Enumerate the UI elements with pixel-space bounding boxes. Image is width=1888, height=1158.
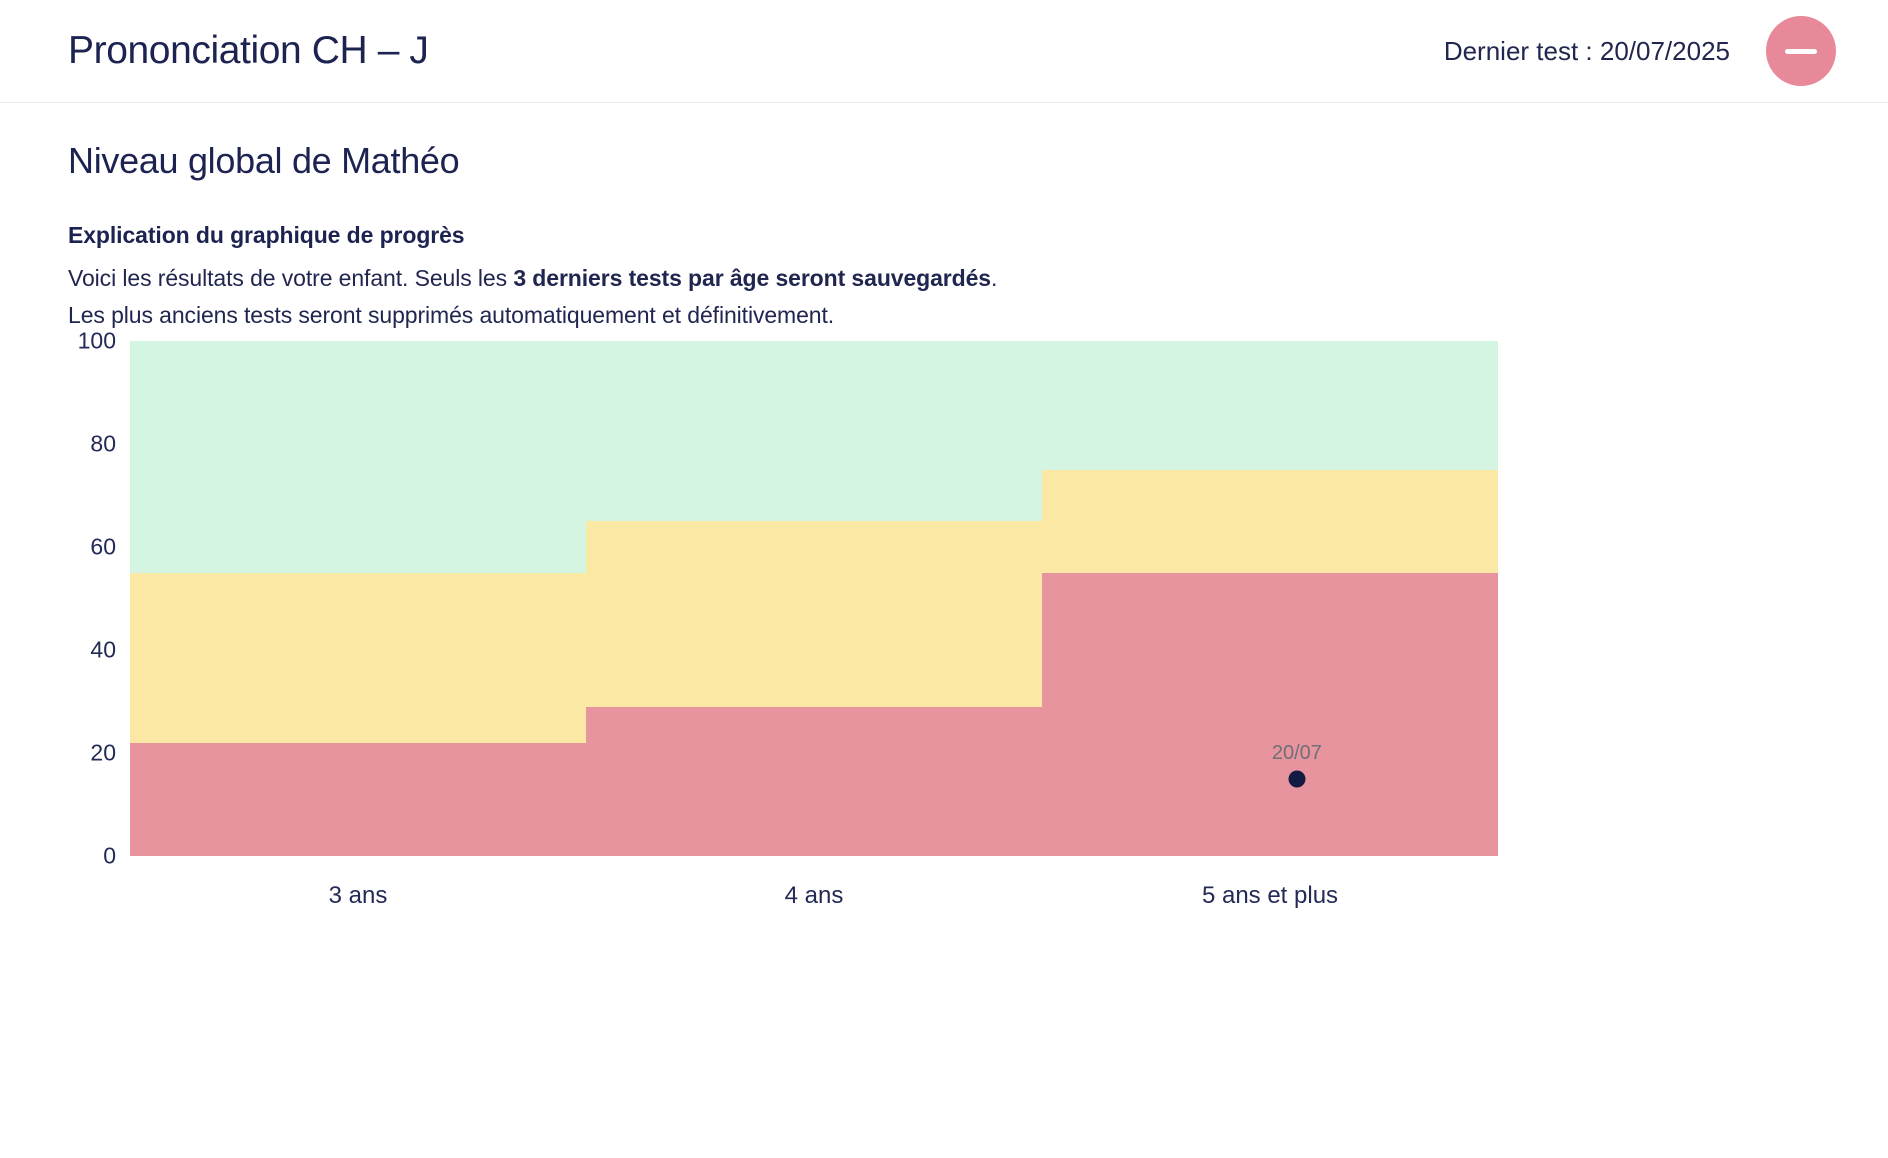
band-yellow — [586, 521, 1042, 706]
x-axis-tick: 3 ans — [329, 882, 388, 910]
section-title: Niveau global de Mathéo — [68, 140, 459, 182]
explanation-line-2: Les plus anciens tests seront supprimés … — [68, 297, 1468, 334]
last-test-date: Dernier test : 20/07/2025 — [1444, 36, 1730, 67]
band-yellow — [1042, 470, 1498, 573]
chart-column — [586, 341, 1042, 856]
band-green — [1042, 341, 1498, 470]
y-axis-tick: 0 — [103, 843, 116, 870]
band-red — [130, 743, 586, 856]
x-axis-tick: 4 ans — [785, 882, 844, 910]
x-axis: 3 ans4 ans5 ans et plus — [130, 856, 1498, 931]
y-axis-tick: 20 — [90, 740, 116, 767]
x-axis-tick: 5 ans et plus — [1202, 882, 1338, 910]
explanation-line-1-prefix: Voici les résultats de votre enfant. Seu… — [68, 265, 513, 291]
chart-column — [1042, 341, 1498, 856]
explanation-line-1-suffix: . — [991, 265, 997, 291]
y-axis: 100806040200 — [68, 341, 116, 856]
band-red — [1042, 573, 1498, 856]
y-axis-tick: 40 — [90, 637, 116, 664]
explanation-line-1-bold: 3 derniers tests par âge seront sauvegar… — [513, 265, 991, 291]
y-axis-tick: 60 — [90, 534, 116, 561]
progress-chart: 100806040200 20/07 3 ans4 ans5 ans et pl… — [68, 341, 1828, 931]
header-actions: Dernier test : 20/07/2025 — [1444, 16, 1836, 86]
y-axis-tick: 100 — [78, 328, 116, 355]
band-red — [586, 707, 1042, 856]
page-title: Prononciation CH – J — [68, 29, 429, 73]
card-header: Prononciation CH – J Dernier test : 20/0… — [0, 0, 1888, 103]
progress-card: Prononciation CH – J Dernier test : 20/0… — [0, 0, 1888, 1158]
minus-icon — [1785, 49, 1817, 54]
band-yellow — [130, 573, 586, 743]
chart-column — [130, 341, 586, 856]
data-point-marker[interactable] — [1288, 770, 1305, 787]
band-green — [586, 341, 1042, 521]
explanation-line-1: Voici les résultats de votre enfant. Seu… — [68, 260, 1468, 297]
explanation-block: Explication du graphique de progrès Voic… — [68, 222, 1468, 334]
explanation-heading: Explication du graphique de progrès — [68, 222, 1468, 249]
band-green — [130, 341, 586, 573]
y-axis-tick: 80 — [90, 431, 116, 458]
chart-plot-area: 20/07 — [130, 341, 1498, 856]
collapse-button[interactable] — [1766, 16, 1836, 86]
data-point-label: 20/07 — [1272, 742, 1322, 765]
